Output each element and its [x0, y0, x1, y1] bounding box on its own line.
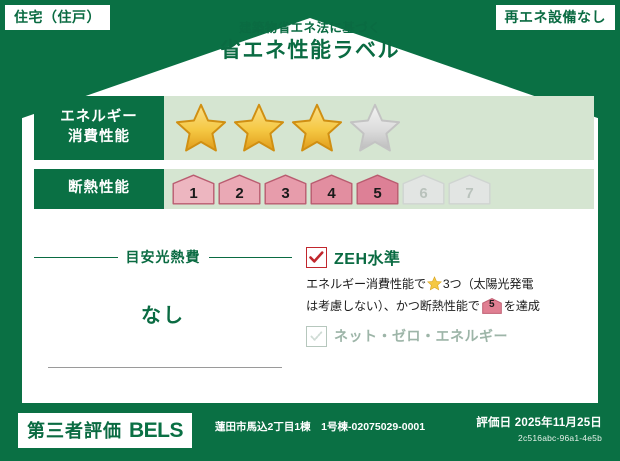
badge-renewable-equipment: 再エネ設備なし — [496, 5, 616, 30]
zeh-desc-part2: は考慮しない）、かつ断熱性能で — [306, 299, 480, 313]
insulation-level-number: 4 — [327, 185, 335, 205]
inline-star-icon — [427, 276, 442, 297]
cost-heading-text: 目安光熱費 — [126, 247, 201, 267]
evaluation-date: 評価日 2025年11月25日 — [476, 414, 602, 430]
row-energy-label-line2: 消費性能 — [68, 128, 130, 148]
row-insulation-performance: 断熱性能 1234567 — [34, 169, 594, 209]
insulation-level-on: 3 — [264, 174, 307, 205]
star-rating — [174, 102, 402, 154]
star-empty — [348, 102, 402, 154]
insulation-level-scale: 1234567 — [172, 174, 491, 205]
net-zero-energy-checkbox[interactable] — [306, 326, 327, 347]
row-insulation-label: 断熱性能 — [34, 169, 164, 209]
zeh-description: エネルギー消費性能で 3つ（太陽光発電 は考慮しない）、かつ断熱性能で 5を達成 — [306, 275, 594, 316]
insulation-level-number: 7 — [465, 185, 473, 205]
cost-value-text: なし — [34, 299, 292, 328]
check-icon-faded — [310, 331, 323, 342]
net-zero-energy-row: ネット・ゼロ・エネルギー — [306, 326, 594, 347]
insulation-level-number: 5 — [373, 185, 381, 205]
star-filled — [232, 102, 286, 154]
insulation-level-number: 2 — [235, 185, 243, 205]
bels-jp-text: 第三者評価 — [27, 417, 122, 443]
inline-house-icon: 5 — [482, 298, 502, 314]
row-energy-label-line1: エネルギー — [60, 108, 138, 128]
zeh-desc-part3: を達成 — [504, 299, 540, 313]
bels-badge: 第三者評価 BELS — [18, 413, 192, 448]
cost-rule-right — [209, 257, 293, 258]
insulation-level-number: 6 — [419, 185, 427, 205]
utility-cost-heading: 目安光熱費 — [34, 247, 292, 267]
star-filled — [290, 102, 344, 154]
check-icon — [309, 251, 324, 264]
bels-en-text: BELS — [129, 419, 183, 443]
zeh-checkbox[interactable] — [306, 247, 327, 268]
insulation-level-on: 5 — [356, 174, 399, 205]
insulation-level-on: 1 — [172, 174, 215, 205]
insulation-level-on: 4 — [310, 174, 353, 205]
badge-dwelling-type: 住宅（住戸） — [5, 5, 110, 30]
row-energy-label: エネルギー 消費性能 — [34, 96, 164, 160]
star-filled — [174, 102, 228, 154]
evaluation-uid: 2c516abc-96a1-4e5b — [476, 433, 602, 443]
cost-bottom-divider — [48, 367, 282, 368]
zeh-heading: ZEH水準 — [306, 245, 594, 269]
insulation-level-on: 2 — [218, 174, 261, 205]
insulation-level-number: 3 — [281, 185, 289, 205]
insulation-level-off: 6 — [402, 174, 445, 205]
building-address: 蓮田市馬込2丁目1棟 1号棟-02075029-0001 — [215, 419, 425, 434]
evaluation-info: 評価日 2025年11月25日 2c516abc-96a1-4e5b — [476, 414, 602, 443]
net-zero-energy-label: ネット・ゼロ・エネルギー — [334, 326, 508, 346]
performance-rows: エネルギー 消費性能 断熱性能 1234567 — [34, 96, 594, 218]
row-energy-value — [164, 96, 594, 160]
row-energy-performance: エネルギー 消費性能 — [34, 96, 594, 160]
zeh-desc-part1: エネルギー消費性能で — [306, 277, 426, 291]
label-footer: 第三者評価 BELS 蓮田市馬込2丁目1棟 1号棟-02075029-0001 … — [0, 403, 620, 461]
inline-house-level: 5 — [482, 297, 502, 313]
insulation-level-off: 7 — [448, 174, 491, 205]
row-insulation-value: 1234567 — [164, 169, 594, 209]
insulation-level-number: 1 — [189, 185, 197, 205]
zeh-title: ZEH水準 — [334, 245, 401, 269]
zeh-desc-stars: 3つ（太陽光発電 — [443, 277, 534, 291]
energy-label-root: 住宅（住戸） 再エネ設備なし 建築物省エネ法に基づく 省エネ性能ラベル エネルギ… — [0, 0, 620, 461]
cost-rule-left — [34, 257, 118, 258]
